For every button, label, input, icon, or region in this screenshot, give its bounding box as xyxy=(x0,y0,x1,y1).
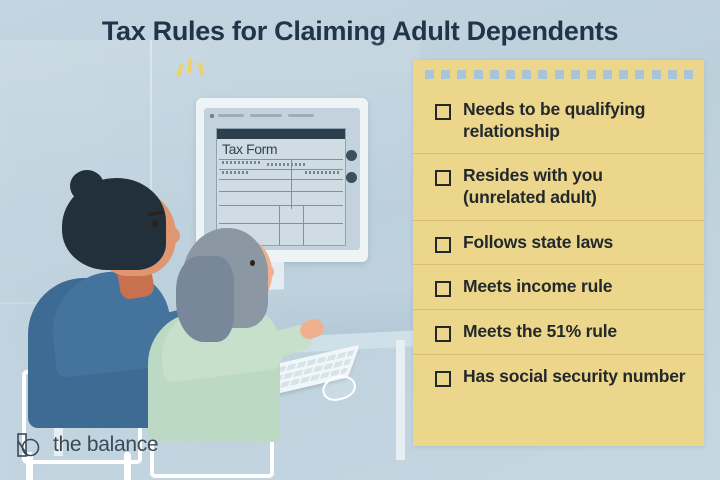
perforation-square xyxy=(457,70,466,79)
screen-bullet-icon xyxy=(210,114,214,118)
perforation-square xyxy=(522,70,531,79)
list-item[interactable]: Meets the 51% rule xyxy=(413,310,704,355)
perforation-square xyxy=(425,70,434,79)
form-rule xyxy=(219,159,343,160)
desk-leg-2 xyxy=(396,340,405,460)
list-item-label: Meets income rule xyxy=(463,276,612,298)
document-header-bar xyxy=(217,129,345,139)
perforation-square xyxy=(441,70,450,79)
list-item-label: Meets the 51% rule xyxy=(463,321,617,343)
form-rule-3 xyxy=(219,179,343,180)
list-item[interactable]: Resides with you (unrelated adult) xyxy=(413,154,704,220)
form-rule-6 xyxy=(219,223,343,224)
person-right-hair-back xyxy=(176,256,234,342)
form-scribble-line xyxy=(222,161,262,164)
perforation-square xyxy=(474,70,483,79)
unchecked-checkbox-icon[interactable] xyxy=(435,371,451,387)
unchecked-checkbox-icon[interactable] xyxy=(435,326,451,342)
form-scribble-line-4 xyxy=(305,171,339,174)
unchecked-checkbox-icon[interactable] xyxy=(435,170,451,186)
unchecked-checkbox-icon[interactable] xyxy=(435,281,451,297)
panel-perforation-strip xyxy=(425,70,693,79)
perforation-square xyxy=(652,70,661,79)
screen-text-squiggle-3 xyxy=(288,114,314,117)
perforation-square xyxy=(603,70,612,79)
checklist-panel: Needs to be qualifying relationship Resi… xyxy=(413,60,704,446)
list-item-label: Needs to be qualifying relationship xyxy=(463,99,688,142)
unchecked-checkbox-icon[interactable] xyxy=(435,237,451,253)
form-rule-2 xyxy=(219,169,343,170)
brand-logo[interactable]: the balance xyxy=(14,430,158,460)
infographic-canvas: Tax Rules for Claiming Adult Dependents … xyxy=(0,0,720,480)
list-item-label: Has social security number xyxy=(463,366,685,388)
perforation-square xyxy=(555,70,564,79)
perforation-square xyxy=(571,70,580,79)
screen-top-bar xyxy=(210,113,354,120)
form-column-divider-3 xyxy=(303,205,304,245)
brand-logo-text: the balance xyxy=(53,433,158,457)
perforation-square xyxy=(587,70,596,79)
form-scribble-line-2 xyxy=(267,163,305,166)
screen-side-button-icon xyxy=(346,150,357,161)
list-item[interactable]: Meets income rule xyxy=(413,265,704,310)
screen-side-button-icon-2 xyxy=(346,172,357,183)
screen-text-squiggle-2 xyxy=(250,114,282,117)
perforation-square xyxy=(684,70,693,79)
document-title: Tax Form xyxy=(222,141,277,157)
unchecked-checkbox-icon[interactable] xyxy=(435,104,451,120)
perforation-square xyxy=(506,70,515,79)
form-rule-5 xyxy=(219,205,343,206)
form-column-divider-2 xyxy=(279,205,280,245)
list-item[interactable]: Follows state laws xyxy=(413,221,704,266)
person-left-hair-bun xyxy=(70,170,104,202)
list-item[interactable]: Needs to be qualifying relationship xyxy=(413,88,704,154)
list-item-label: Resides with you (unrelated adult) xyxy=(463,165,688,208)
form-column-divider xyxy=(291,159,292,209)
form-rule-4 xyxy=(219,191,343,192)
perforation-square xyxy=(490,70,499,79)
illustration: Tax Form xyxy=(0,40,420,480)
checklist-items: Needs to be qualifying relationship Resi… xyxy=(413,88,704,399)
screen-text-squiggle xyxy=(218,114,244,117)
person-right-eye xyxy=(250,260,255,266)
form-scribble-line-3 xyxy=(222,171,250,174)
perforation-square xyxy=(635,70,644,79)
person-left-eye xyxy=(152,220,158,227)
list-item[interactable]: Has social security number xyxy=(413,355,704,399)
perforation-square xyxy=(668,70,677,79)
perforation-square xyxy=(538,70,547,79)
list-item-label: Follows state laws xyxy=(463,232,613,254)
balance-b-logo-icon xyxy=(14,430,44,460)
perforation-square xyxy=(619,70,628,79)
